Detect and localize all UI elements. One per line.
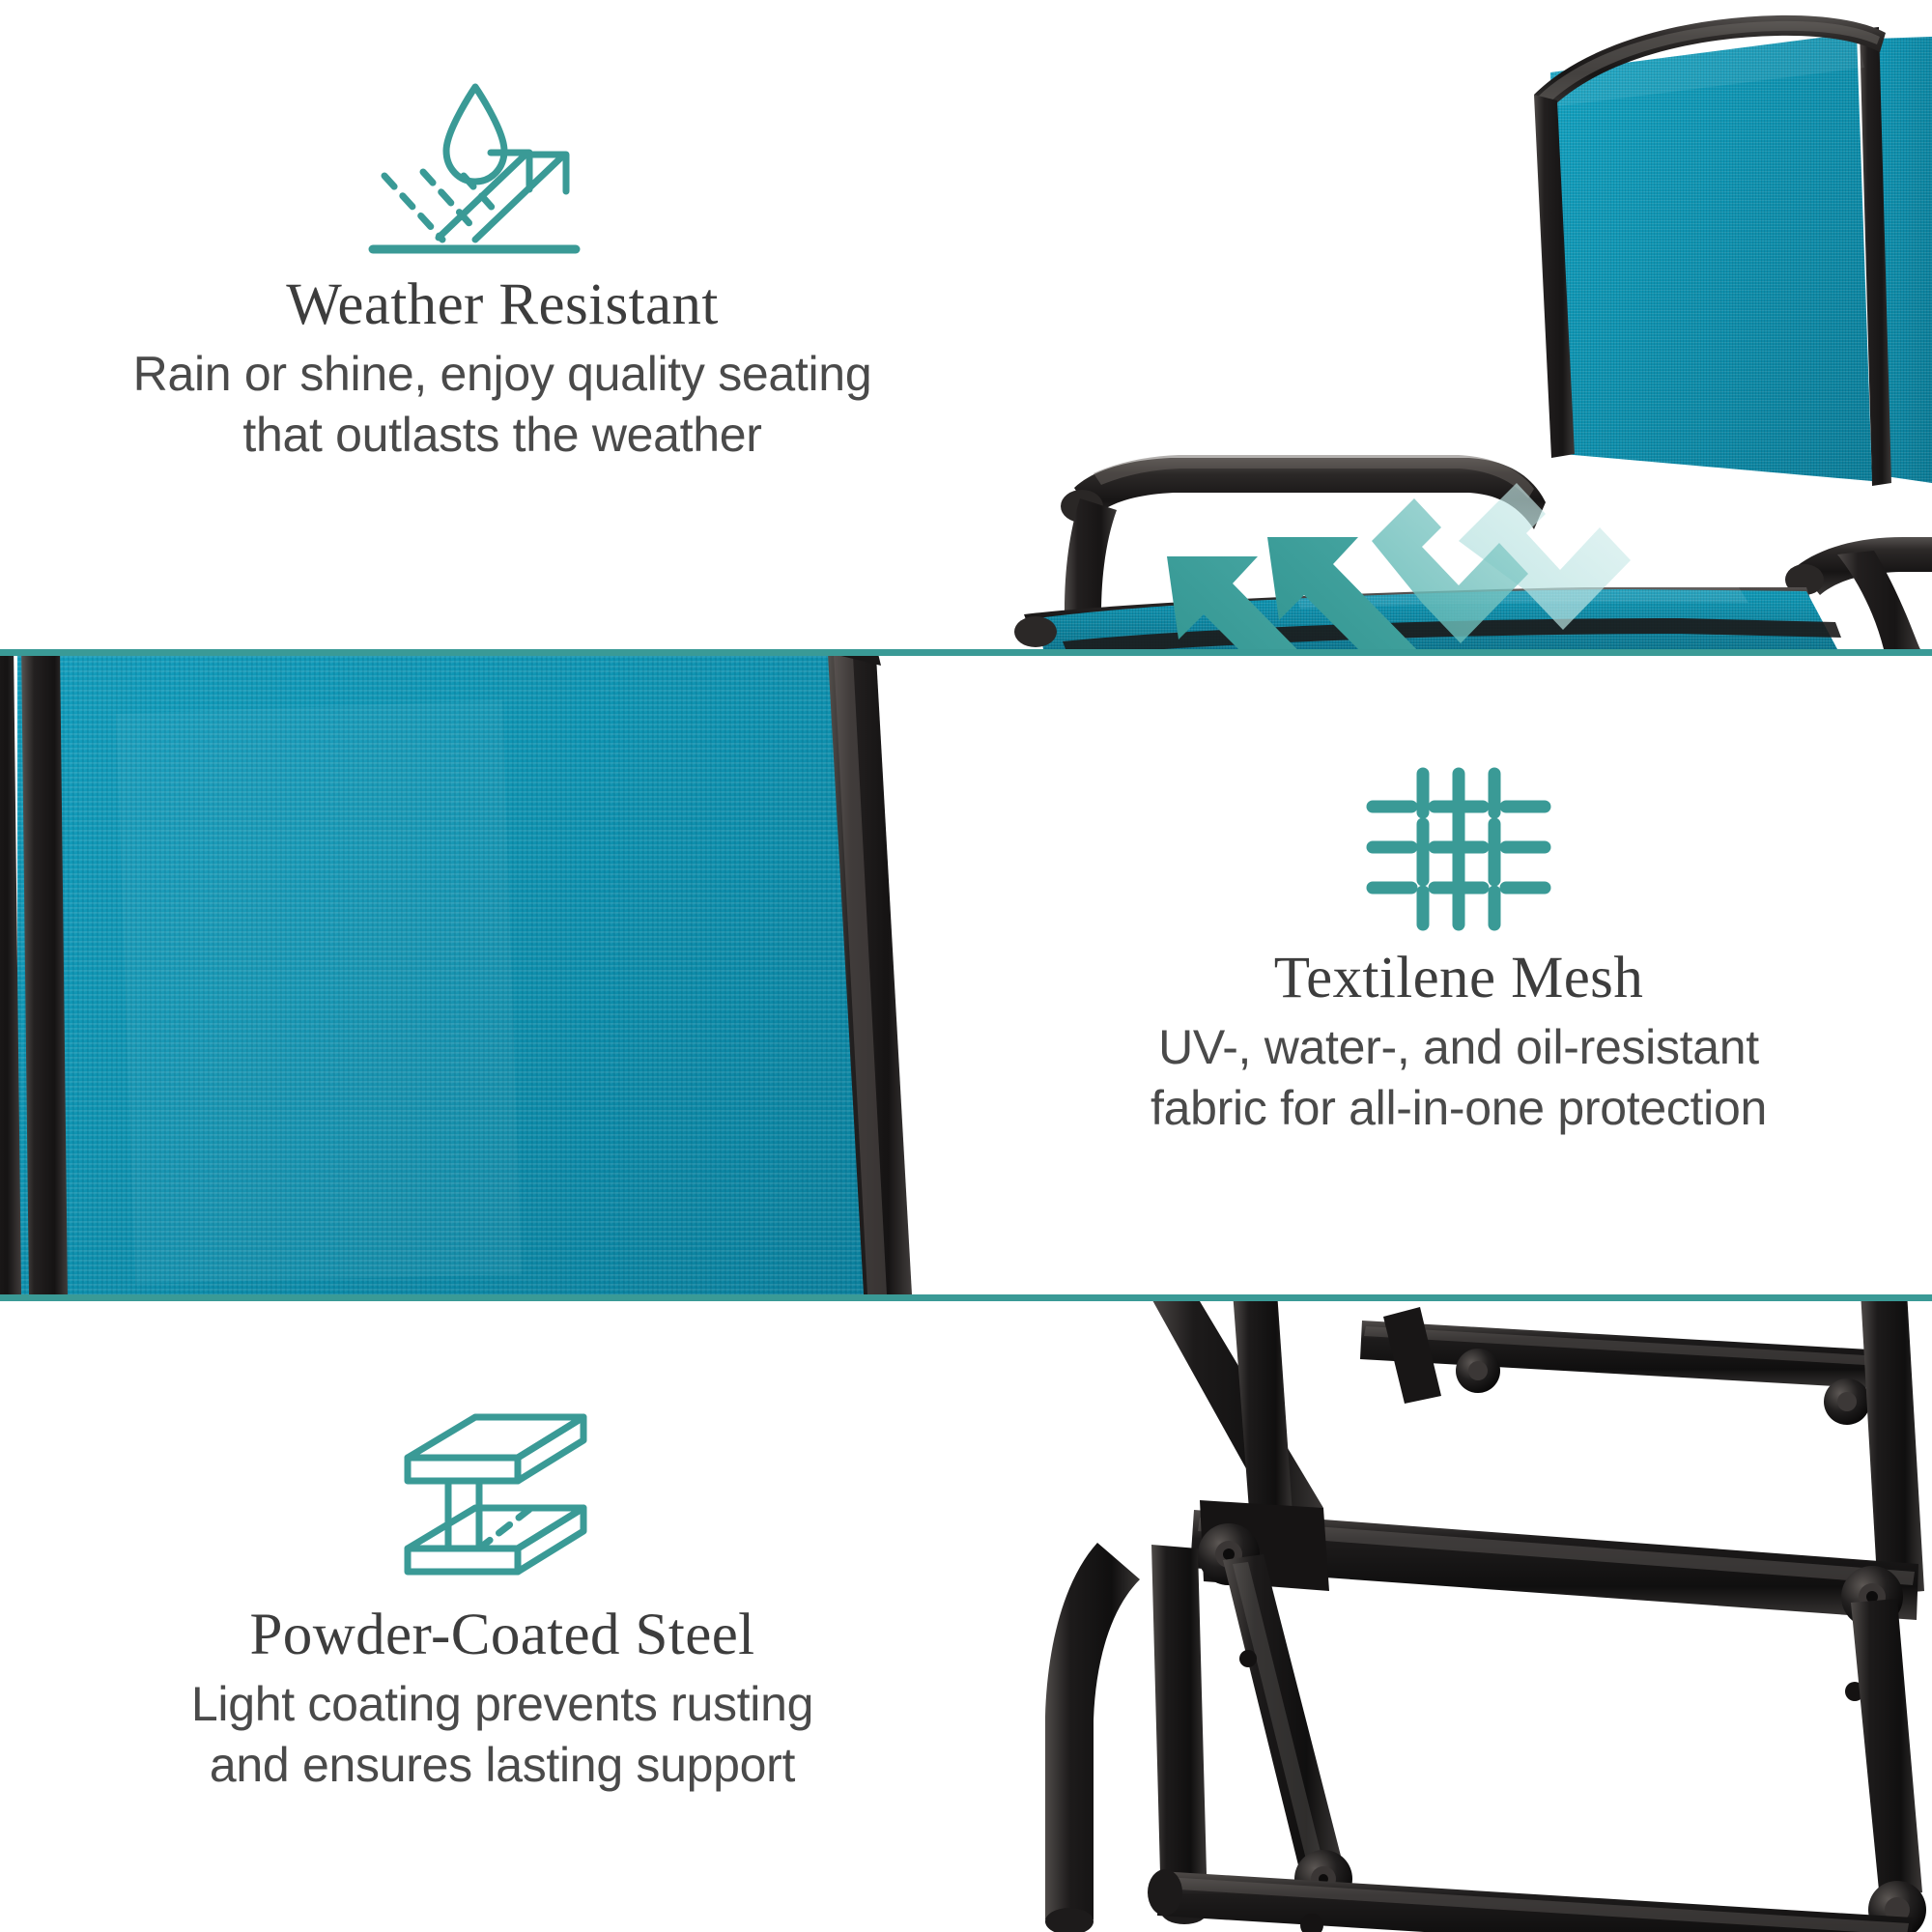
feature-desc-line: fabric for all-in-one protection [985, 1078, 1932, 1139]
infographic-canvas: Weather Resistant Rain or shine, enjoy q… [0, 0, 1932, 1932]
woven-mesh-icon [1348, 753, 1570, 936]
feature-desc-line: and ensures lasting support [0, 1735, 1005, 1796]
feature-desc-weather-resistant: Rain or shine, enjoy quality seating tha… [0, 344, 1005, 466]
feature-desc-line: UV-, water-, and oil-resistant [985, 1017, 1932, 1078]
steel-frame-image [1005, 1301, 1932, 1932]
glider-loveseat-photo [1005, 0, 1932, 649]
feature-title-weather-resistant: Weather Resistant [0, 272, 1005, 338]
feature-desc-line: Rain or shine, enjoy quality seating [0, 344, 1005, 405]
feature-weather-resistant: Weather Resistant Rain or shine, enjoy q… [0, 0, 1005, 649]
feature-desc-line: Light coating prevents rusting [0, 1674, 1005, 1735]
glider-loveseat-image [1005, 0, 1932, 649]
textilene-fabric-image [0, 656, 985, 1294]
water-repellent-icon [363, 75, 585, 259]
feature-desc-line: that outlasts the weather [0, 405, 1005, 466]
i-beam-icon [386, 1407, 618, 1601]
feature-title-textilene-mesh: Textilene Mesh [985, 946, 1932, 1011]
feature-desc-powder-coated-steel: Light coating prevents rusting and ensur… [0, 1674, 1005, 1796]
section-divider-top [0, 649, 1932, 656]
section-divider-bottom [0, 1294, 1932, 1301]
frame-closeup-photo [1005, 1301, 1932, 1932]
feature-title-powder-coated-steel: Powder-Coated Steel [0, 1603, 1005, 1668]
feature-powder-coated-steel: Powder-Coated Steel Light coating preven… [0, 1301, 1005, 1932]
fabric-closeup-photo [0, 656, 985, 1294]
feature-desc-textilene-mesh: UV-, water-, and oil-resistant fabric fo… [985, 1017, 1932, 1139]
feature-textilene-mesh: Textilene Mesh UV-, water-, and oil-resi… [985, 656, 1932, 1294]
